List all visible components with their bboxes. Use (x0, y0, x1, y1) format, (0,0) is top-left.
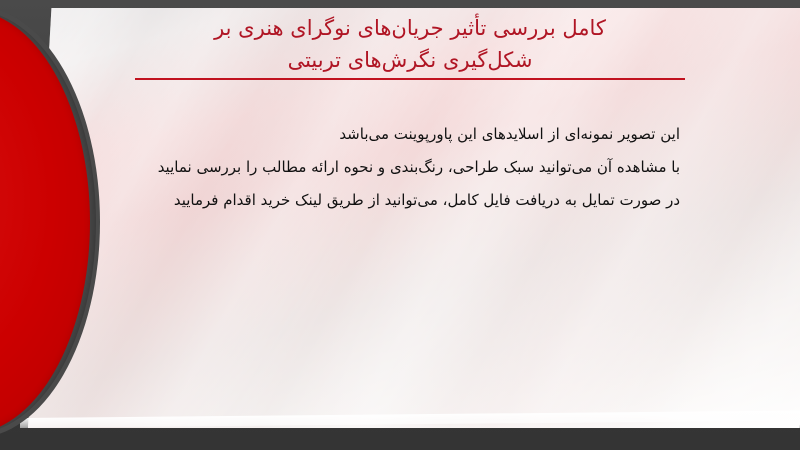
slide-body-line-2: با مشاهده آن می‌توانید سبک طراحی، رنگ‌بن… (120, 151, 680, 184)
slide-title-line-1: کامل بررسی تأثیر جریان‌های نوگرای هنری ب… (120, 12, 700, 44)
slide-canvas: کامل بررسی تأثیر جریان‌های نوگرای هنری ب… (0, 0, 800, 450)
title-underline-rule (135, 78, 685, 80)
slide-body-text: این تصویر نمونه‌ای از اسلایدهای این پاور… (120, 118, 680, 217)
slide-body-line-3: در صورت تمایل به دریافت فایل کامل، می‌تو… (120, 184, 680, 217)
slide-title-line-2: شکل‌گیری نگرش‌های تربیتی (120, 44, 700, 76)
slide-body-line-1: این تصویر نمونه‌ای از اسلایدهای این پاور… (120, 118, 680, 151)
slide-title: کامل بررسی تأثیر جریان‌های نوگرای هنری ب… (120, 12, 700, 76)
